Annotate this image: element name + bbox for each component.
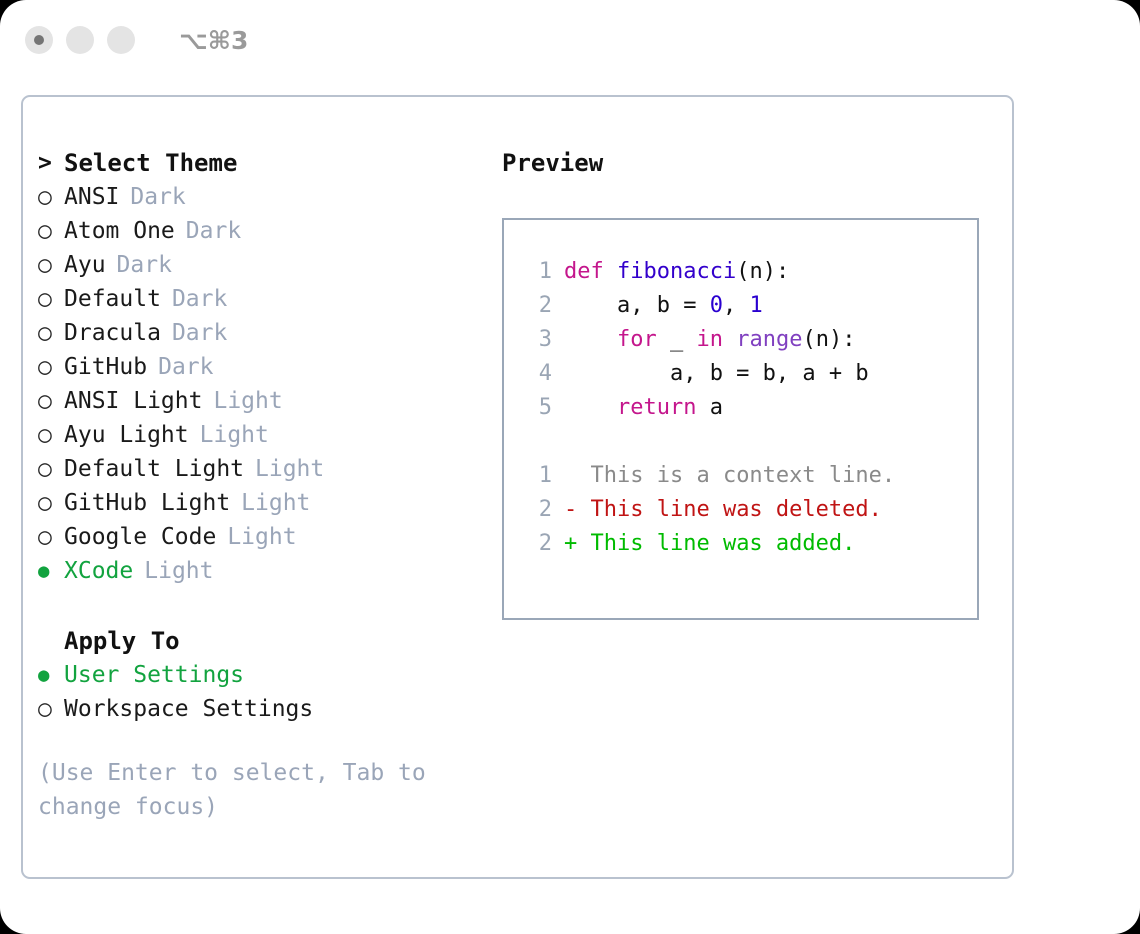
preview-title: Preview <box>502 146 992 180</box>
window-titlebar: ⌥⌘3 <box>0 0 1140 80</box>
radio-unselected-icon[interactable]: ○ <box>38 458 64 481</box>
radio-unselected-icon[interactable]: ○ <box>38 322 64 345</box>
theme-option-name: Default <box>64 286 161 312</box>
select-theme-header: > Select Theme <box>38 146 478 180</box>
code-line-content: a, b = 0, 1 <box>564 293 763 318</box>
diff-line-text: This line was deleted. <box>577 497 882 522</box>
theme-option-row[interactable]: ○Ayu LightLight <box>38 418 478 452</box>
diff-line-text: This line was added. <box>577 531 855 556</box>
code-token: a, b = b, a + b <box>564 361 869 386</box>
code-token <box>564 395 617 420</box>
code-line-content: for _ in range(n): <box>564 327 855 352</box>
radio-unselected-icon[interactable]: ○ <box>38 220 64 243</box>
apply-to-header: ○ Apply To <box>38 624 478 658</box>
theme-option-variant: Light <box>213 388 282 414</box>
code-line: 2 a, b = 0, 1 <box>518 288 977 322</box>
theme-option-name: XCode <box>64 558 133 584</box>
code-line: 4 a, b = b, a + b <box>518 356 977 390</box>
theme-option-name: Ayu <box>64 252 106 278</box>
theme-option-variant: Light <box>255 456 324 482</box>
code-token: in <box>696 327 723 352</box>
radio-unselected-icon[interactable]: ○ <box>38 492 64 515</box>
diff-line: 2- This line was deleted. <box>518 492 977 526</box>
theme-picker-panel: > Select Theme ○ANSIDark○Atom OneDark○Ay… <box>21 95 1014 879</box>
apply-to-option-row[interactable]: ●User Settings <box>38 658 478 692</box>
code-token: (n): <box>736 259 789 284</box>
theme-option-row[interactable]: ○ANSI LightLight <box>38 384 478 418</box>
app-window: ⌥⌘3 > Select Theme ○ANSIDark○Atom OneDar… <box>0 0 1140 934</box>
theme-option-variant: Light <box>144 558 213 584</box>
theme-option-row[interactable]: ○ANSIDark <box>38 180 478 214</box>
code-sample: 1def fibonacci(n):2 a, b = 0, 13 for _ i… <box>518 254 977 424</box>
radio-unselected-icon[interactable]: ○ <box>38 356 64 379</box>
code-line-content: a, b = b, a + b <box>564 361 869 386</box>
theme-option-row[interactable]: ●XCodeLight <box>38 554 478 588</box>
diff-marker: - <box>564 497 577 522</box>
window-dot-3[interactable] <box>107 26 135 54</box>
theme-option-variant: Dark <box>172 320 227 346</box>
theme-option-name: Dracula <box>64 320 161 346</box>
code-preview-box: 1def fibonacci(n):2 a, b = 0, 13 for _ i… <box>502 218 979 620</box>
code-line-number: 3 <box>518 327 552 352</box>
theme-option-variant: Dark <box>186 218 241 244</box>
diff-line-number: 2 <box>518 497 552 522</box>
diff-line: 1 This is a context line. <box>518 458 977 492</box>
code-line-number: 1 <box>518 259 552 284</box>
diff-line-number: 1 <box>518 463 552 488</box>
theme-option-name: Atom One <box>64 218 175 244</box>
diff-line: 2+ This line was added. <box>518 526 977 560</box>
theme-list-column: > Select Theme ○ANSIDark○Atom OneDark○Ay… <box>38 146 478 824</box>
code-token <box>564 327 617 352</box>
code-token: def <box>564 259 604 284</box>
radio-unselected-icon[interactable]: ○ <box>38 288 64 311</box>
code-line-number: 4 <box>518 361 552 386</box>
diff-line-number: 2 <box>518 531 552 556</box>
window-dot-2[interactable] <box>66 26 94 54</box>
apply-to-option-list: ●User Settings○Workspace Settings <box>38 658 478 726</box>
code-token: fibonacci <box>617 259 736 284</box>
code-token: return <box>617 395 696 420</box>
radio-unselected-icon[interactable]: ○ <box>38 698 64 721</box>
select-theme-header-label: Select Theme <box>64 149 237 177</box>
radio-unselected-icon[interactable]: ○ <box>38 186 64 209</box>
theme-option-name: Google Code <box>64 524 216 550</box>
code-line-content: def fibonacci(n): <box>564 259 789 284</box>
theme-option-name: Default Light <box>64 456 244 482</box>
apply-to-option-name: User Settings <box>64 662 244 688</box>
keyboard-hint-text: (Use Enter to select, Tab to change focu… <box>38 756 458 824</box>
keyboard-shortcut-label: ⌥⌘3 <box>179 26 248 55</box>
code-line: 1def fibonacci(n): <box>518 254 977 288</box>
apply-to-option-row[interactable]: ○Workspace Settings <box>38 692 478 726</box>
code-diff-spacer <box>518 424 977 458</box>
theme-option-name: GitHub <box>64 354 147 380</box>
theme-option-row[interactable]: ○Default LightLight <box>38 452 478 486</box>
code-token <box>723 327 736 352</box>
theme-option-name: Ayu Light <box>64 422 189 448</box>
code-token: 1 <box>749 293 762 318</box>
code-line-number: 5 <box>518 395 552 420</box>
radio-unselected-icon[interactable]: ○ <box>38 254 64 277</box>
diff-marker <box>564 463 577 488</box>
theme-option-row[interactable]: ○Google CodeLight <box>38 520 478 554</box>
radio-selected-icon[interactable]: ● <box>38 562 64 581</box>
code-token: for <box>617 327 657 352</box>
code-line-number: 2 <box>518 293 552 318</box>
code-line: 3 for _ in range(n): <box>518 322 977 356</box>
radio-unselected-icon[interactable]: ○ <box>38 526 64 549</box>
theme-option-name: ANSI <box>64 184 119 210</box>
theme-option-name: ANSI Light <box>64 388 202 414</box>
apply-to-spacer-icon: ○ <box>38 630 64 653</box>
code-token: range <box>736 327 802 352</box>
theme-option-row[interactable]: ○Atom OneDark <box>38 214 478 248</box>
code-token: _ <box>657 327 697 352</box>
theme-option-variant: Dark <box>117 252 172 278</box>
theme-option-row[interactable]: ○GitHubDark <box>38 350 478 384</box>
radio-unselected-icon[interactable]: ○ <box>38 424 64 447</box>
code-token: 0 <box>710 293 723 318</box>
preview-column: Preview 1def fibonacci(n):2 a, b = 0, 13… <box>502 146 992 620</box>
theme-option-variant: Dark <box>172 286 227 312</box>
apply-to-header-label: Apply To <box>64 627 180 655</box>
window-dot-active[interactable] <box>25 26 53 54</box>
theme-option-name: GitHub Light <box>64 490 230 516</box>
diff-line-text: This is a context line. <box>577 463 895 488</box>
code-token: , <box>723 293 750 318</box>
theme-option-row[interactable]: ○DraculaDark <box>38 316 478 350</box>
apply-to-option-name: Workspace Settings <box>64 696 313 722</box>
prompt-caret-icon: > <box>38 152 64 175</box>
theme-option-variant: Dark <box>130 184 185 210</box>
code-line: 5 return a <box>518 390 977 424</box>
code-token <box>604 259 617 284</box>
theme-option-variant: Light <box>241 490 310 516</box>
code-line-content: return a <box>564 395 723 420</box>
diff-sample: 1 This is a context line.2- This line wa… <box>518 458 977 560</box>
radio-unselected-icon[interactable]: ○ <box>38 390 64 413</box>
theme-option-variant: Dark <box>158 354 213 380</box>
code-token: (n): <box>802 327 855 352</box>
theme-option-row[interactable]: ○GitHub LightLight <box>38 486 478 520</box>
theme-option-variant: Light <box>227 524 296 550</box>
theme-option-row[interactable]: ○AyuDark <box>38 248 478 282</box>
theme-option-list: ○ANSIDark○Atom OneDark○AyuDark○DefaultDa… <box>38 180 478 588</box>
theme-option-row[interactable]: ○DefaultDark <box>38 282 478 316</box>
window-dot-active-indicator <box>34 35 44 45</box>
theme-option-variant: Light <box>200 422 269 448</box>
code-token: a, b = <box>564 293 710 318</box>
diff-marker: + <box>564 531 577 556</box>
code-token: a <box>696 395 723 420</box>
radio-selected-icon[interactable]: ● <box>38 666 64 685</box>
